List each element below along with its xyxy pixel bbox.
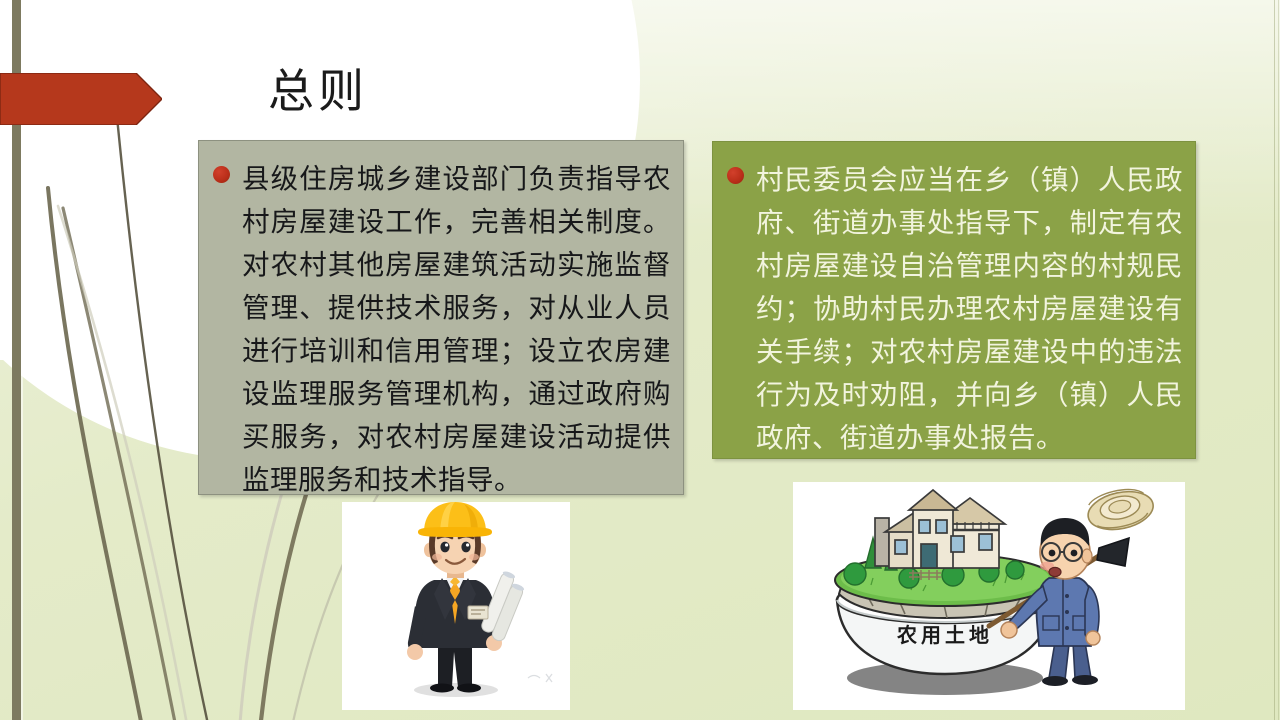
right-box-paragraph: 村民委员会应当在乡（镇）人民政府、街道办事处指导下，制定有农村房屋建设自治管理内… [756,158,1183,459]
content-box-right: 村民委员会应当在乡（镇）人民政府、街道办事处指导下，制定有农村房屋建设自治管理内… [712,141,1196,459]
bullet-icon [213,166,230,183]
farmland-bowl-cartoon: 农用土地 [793,482,1185,710]
left-box-paragraph: 县级住房城乡建设部门负责指导农村房屋建设工作，完善相关制度。对农村其他房屋建筑活… [242,157,671,501]
bullet-icon [727,167,744,184]
bowl-label: 农用土地 [896,623,993,647]
construction-supervisor-illustration [342,502,570,710]
presentation-slide: 总则 县级住房城乡建设部门负责指导农村房屋建设工作，完善相关制度。对农村其他房屋… [0,0,1280,720]
red-arrow-banner [0,73,162,125]
right-border-line [1274,0,1275,720]
right-border-line-outer [1278,0,1279,720]
construction-supervisor-image [342,502,570,710]
page-title: 总则 [268,64,368,120]
content-box-left: 县级住房城乡建设部门负责指导农村房屋建设工作，完善相关制度。对农村其他房屋建筑活… [198,140,684,495]
farmland-bowl-image: 农用土地 [793,482,1185,710]
